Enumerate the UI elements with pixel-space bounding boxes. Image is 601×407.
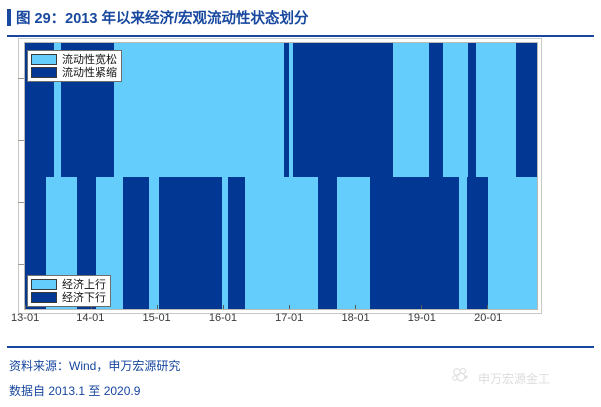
legend-swatch-light-blue	[31, 279, 57, 290]
title-accent-bar	[7, 9, 11, 26]
economy-legend: 经济上行 经济下行	[27, 275, 111, 307]
chart-plot-area	[24, 42, 538, 310]
legend-swatch-light-blue	[31, 54, 57, 65]
x-axis-tick-label: 14-01	[76, 312, 104, 324]
legend-label-economy-down: 经济下行	[62, 292, 106, 303]
x-axis-labels: 13-0114-0115-0116-0117-0118-0119-0120-01	[24, 312, 538, 328]
liquidity-segment	[114, 43, 284, 177]
x-axis-tick-label: 15-01	[143, 312, 171, 324]
title-bar: 图 29：2013 年以来经济/宏观流动性状态划分	[0, 0, 601, 34]
economy-segment	[123, 177, 150, 309]
x-axis-tick	[355, 305, 356, 309]
flower-icon	[450, 366, 472, 391]
economy-segment	[149, 177, 158, 309]
x-axis-tick	[487, 305, 488, 309]
liquidity-segment	[393, 43, 430, 177]
footer-source-text: 资料来源：Wind，申万宏源研究	[9, 357, 180, 374]
x-axis-tick-label: 19-01	[408, 312, 436, 324]
title-divider	[7, 35, 594, 37]
x-axis-tick	[421, 305, 422, 309]
liquidity-legend: 流动性宽松 流动性紧缩	[27, 50, 122, 82]
legend-swatch-dark-blue	[31, 67, 57, 78]
economy-segment	[467, 177, 488, 309]
legend-item-liquidity-loose: 流动性宽松	[31, 53, 117, 66]
economy-segment	[337, 177, 370, 309]
y-axis-tick	[18, 140, 24, 141]
footer-divider	[7, 346, 594, 348]
liquidity-segment	[429, 43, 443, 177]
economy-segment	[159, 177, 222, 309]
x-axis-tick-label: 18-01	[341, 312, 369, 324]
economy-segment	[245, 177, 318, 309]
liquidity-segment	[468, 43, 476, 177]
x-axis-tick	[25, 305, 26, 309]
economy-segment	[318, 177, 337, 309]
economy-segment	[488, 177, 537, 309]
economy-segment	[370, 177, 460, 309]
liquidity-segment	[443, 43, 468, 177]
liquidity-segment	[293, 43, 393, 177]
y-axis-tick	[18, 78, 24, 79]
economy-segment	[459, 177, 467, 309]
x-axis-tick-label: 16-01	[209, 312, 237, 324]
page-title: 图 29：2013 年以来经济/宏观流动性状态划分	[16, 7, 308, 28]
legend-item-liquidity-tight: 流动性紧缩	[31, 66, 117, 79]
legend-label-economy-up: 经济上行	[62, 279, 106, 290]
legend-item-economy-up: 经济上行	[31, 278, 106, 291]
x-axis-tick-label: 17-01	[275, 312, 303, 324]
y-axis-tick	[18, 264, 24, 265]
liquidity-segment	[476, 43, 516, 177]
footer-date-range-text: 数据自 2013.1 至 2020.9	[9, 382, 140, 399]
economy-segment	[228, 177, 245, 309]
liquidity-segment	[516, 43, 537, 177]
x-axis-tick	[289, 305, 290, 309]
y-axis-tick	[18, 202, 24, 203]
x-axis-tick	[223, 305, 224, 309]
x-axis-tick-label: 20-01	[474, 312, 502, 324]
watermark: 申万宏源金工	[450, 366, 550, 391]
legend-label-liquidity-tight: 流动性紧缩	[62, 67, 117, 78]
watermark-text: 申万宏源金工	[478, 370, 550, 387]
legend-item-economy-down: 经济下行	[31, 291, 106, 304]
legend-label-liquidity-loose: 流动性宽松	[62, 54, 117, 65]
x-axis-tick	[157, 305, 158, 309]
legend-swatch-dark-blue	[31, 292, 57, 303]
x-axis-tick-label: 13-01	[11, 312, 39, 324]
